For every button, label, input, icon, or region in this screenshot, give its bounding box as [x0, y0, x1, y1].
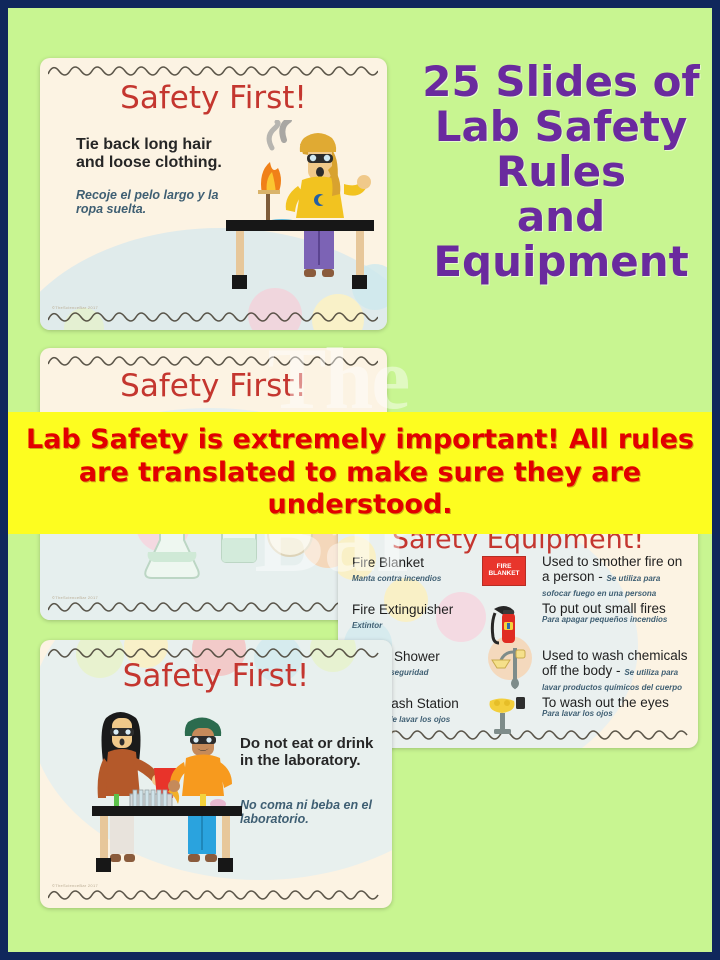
equipment-name: Fire Blanket — [352, 556, 480, 571]
slide-heading: Safety First! — [40, 80, 387, 116]
equipment-description: Used to wash chemicals off the body - Se… — [542, 648, 688, 693]
highlight-banner-text: Lab Safety is extremely important! All r… — [14, 424, 706, 523]
equipment-description-en: To wash out the eyes — [542, 695, 688, 710]
equipment-table: Fire Blanket Manta contra incendios FIRE… — [352, 556, 688, 744]
page-title: 25 Slides of Lab Safety Rules and Equipm… — [406, 60, 712, 285]
slide-heading: Safety First! — [40, 368, 387, 404]
safety-shower-icon — [480, 648, 536, 694]
slide-thumbnail-safety-equipment[interactable]: Safety Equipment! Fire Blanket Manta con… — [338, 516, 698, 748]
squiggle-border-top — [48, 355, 378, 367]
highlight-banner-line-1: Lab Safety is extremely important! All r… — [14, 424, 706, 457]
slide-rule-english: Do not eat or drinkin the laboratory. — [240, 736, 390, 770]
squiggle-border-bottom — [48, 601, 378, 613]
illustration-hair-fire — [224, 120, 376, 300]
equipment-name: Fire Extinguisher — [352, 603, 480, 618]
slide-rule-spanish: No coma ni beba en ellaboratorio. — [240, 798, 390, 827]
slide-thumbnail-tie-back-hair[interactable]: Safety First! Tie back long hairand loos… — [40, 58, 387, 330]
eye-wash-station-icon — [480, 695, 536, 741]
slide-credit: ©TheScienceBar 2017 — [52, 883, 98, 888]
slide-thumbnail-do-not-eat[interactable]: Safety First! Do not eat or drinkin the … — [40, 640, 392, 908]
equipment-description-en: To put out small fires — [542, 601, 688, 616]
table-row: Eye Wash Station Estación de lavar los o… — [352, 697, 688, 744]
highlight-banner-line-2: are translated to make sure they are — [14, 457, 706, 490]
page-title-line-4: and — [406, 195, 712, 240]
equipment-description-es: Para apagar pequeños incendios — [542, 616, 688, 625]
equipment-name-spanish: Extintor — [352, 621, 492, 630]
equipment-name-spanish: Manta contra incendios — [352, 574, 492, 583]
page-title-line-3: Rules — [406, 150, 712, 195]
illustration-eat-drink — [92, 702, 242, 882]
slide-credit: ©TheScienceBar 2017 — [52, 305, 98, 310]
page-title-line-1: 25 Slides of — [406, 60, 712, 105]
table-row: Fire Extinguisher Extintor — [352, 603, 688, 650]
equipment-description: To wash out the eyes Para lavar los ojos — [542, 695, 688, 719]
poster-background: The Science Bar 25 Slides of Lab Safety … — [8, 8, 712, 952]
highlight-banner-line-3: understood. — [14, 489, 706, 522]
page-title-line-2: Lab Safety — [406, 105, 712, 150]
slide-credit: ©TheScienceBar 2017 — [52, 595, 98, 600]
equipment-description-es: Para lavar los ojos — [542, 710, 688, 719]
table-row: Safety Shower Ducha de seguridad — [352, 650, 688, 697]
equipment-description: To put out small fires Para apagar peque… — [542, 601, 688, 625]
squiggle-border-bottom — [48, 311, 378, 323]
highlight-banner: Lab Safety is extremely important! All r… — [8, 412, 712, 534]
equipment-description: Used to smother fire on a person - Se ut… — [542, 554, 688, 599]
poster-canvas: The Science Bar 25 Slides of Lab Safety … — [0, 0, 720, 960]
slide-heading: Safety First! — [40, 658, 392, 694]
fire-extinguisher-icon — [480, 601, 536, 647]
squiggle-border-bottom — [48, 889, 384, 901]
fire-blanket-label-2: BLANKET — [488, 571, 519, 578]
squiggle-border-top — [48, 65, 378, 77]
fire-blanket-icon: FIRE BLANKET — [480, 554, 536, 600]
table-row: Fire Blanket Manta contra incendios FIRE… — [352, 556, 688, 603]
page-title-line-5: Equipment — [406, 240, 712, 285]
